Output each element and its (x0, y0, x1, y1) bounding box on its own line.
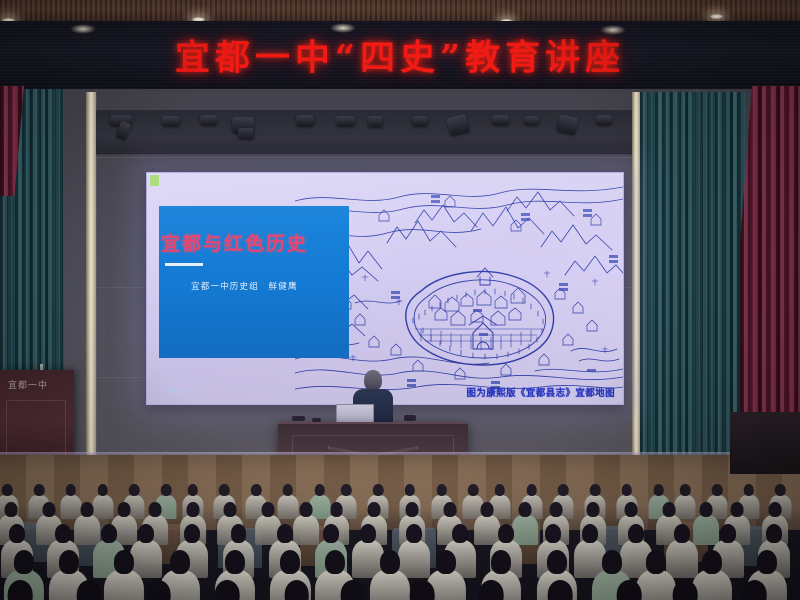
spotlight-icon (412, 116, 428, 126)
audience-head (622, 484, 633, 496)
audience-head (653, 484, 664, 496)
lighting-truss (96, 110, 632, 155)
audience-head (775, 484, 786, 496)
audience-head (452, 524, 468, 543)
ceiling (0, 0, 800, 22)
audience-head (519, 502, 532, 517)
pillar-left (86, 92, 96, 474)
audience-head (118, 502, 131, 517)
spotlight-icon (492, 115, 509, 125)
audience-head (410, 580, 435, 600)
desk-item (404, 415, 416, 421)
audience-head (129, 484, 140, 496)
audience-head (549, 502, 562, 517)
audience-member (466, 580, 515, 600)
audience-member (661, 580, 710, 600)
presenter-head (364, 370, 382, 391)
audience-head (225, 550, 245, 574)
audience-head (186, 502, 199, 517)
audience-head (283, 484, 294, 496)
audience-head (558, 484, 569, 496)
audience-head (481, 502, 494, 517)
audience-head (548, 580, 573, 600)
audience-head (101, 524, 117, 543)
audience-head (757, 550, 777, 574)
slide-subtitle: 宜都一中历史组 鲜健鹰 (191, 280, 298, 292)
audience-member (397, 580, 446, 600)
audience-head (231, 524, 247, 543)
audience-head (587, 502, 600, 517)
audience-head (712, 484, 723, 496)
auditorium-photo: 宜都一中“四史”教育讲座 (0, 0, 800, 600)
audience-head (251, 484, 262, 496)
audience-member (328, 580, 377, 600)
spotlight-icon (200, 115, 217, 125)
audience-head (114, 550, 134, 574)
audience-head (262, 502, 275, 517)
audience-head (325, 550, 345, 574)
audience-head (680, 484, 691, 496)
audience-head (743, 484, 754, 496)
audience-head (406, 524, 422, 543)
spotlight-icon (596, 115, 612, 125)
audience-head (498, 524, 514, 543)
map-caption: 图为康熙版《宜都县志》宜都地图 (466, 385, 615, 399)
audience-head (97, 484, 108, 496)
audience-member (536, 580, 585, 600)
banner-title: 宜都一中“四史”教育讲座 (0, 30, 800, 81)
spotlight-icon (556, 114, 578, 135)
stage-cabinet (730, 412, 800, 474)
audience-head (479, 580, 504, 600)
audience-head (582, 524, 598, 543)
audience-head (280, 550, 300, 574)
spotlight-icon (238, 128, 254, 139)
audience-head (215, 580, 240, 600)
audience-head (330, 502, 343, 517)
spotlight-icon (296, 115, 314, 126)
audience (0, 468, 800, 600)
audience-head (43, 502, 56, 517)
audience-head (224, 502, 237, 517)
audience-head (405, 502, 418, 517)
audience-head (380, 550, 400, 574)
audience-head (219, 484, 230, 496)
audience-head (617, 580, 642, 600)
audience-head (436, 484, 447, 496)
spotlight-icon (524, 116, 539, 125)
audience-head (59, 550, 79, 574)
audience-head (9, 524, 25, 543)
audience-member (134, 580, 183, 600)
audience-head (546, 550, 566, 574)
audience-member (203, 580, 252, 600)
slide-title: 宜都与红色历史 (161, 229, 308, 256)
audience-head (284, 580, 309, 600)
audience-head (161, 484, 172, 496)
spotlight-icon (446, 114, 470, 136)
audience-head (602, 550, 622, 574)
audience-head (405, 484, 416, 496)
audience-head (277, 524, 293, 543)
event-banner: 宜都一中“四史”教育讲座 (0, 21, 800, 91)
ceiling-downlight-icon (710, 14, 723, 19)
desk-item (292, 416, 305, 421)
audience-head (720, 524, 736, 543)
audience-head (491, 550, 511, 574)
audience-head (149, 502, 162, 517)
audience-head (628, 524, 644, 543)
spotlight-icon (162, 116, 180, 126)
audience-head (368, 502, 381, 517)
audience-head (700, 502, 713, 517)
slide-title-rule (165, 263, 203, 266)
audience-member (605, 580, 654, 600)
screen-power-indicator-icon (150, 175, 159, 186)
audience-head (674, 524, 690, 543)
audience-head (468, 484, 479, 496)
audience-head (170, 550, 190, 574)
audience-member (65, 580, 114, 600)
slide-progress-dots-icon (161, 389, 197, 393)
audience-head (314, 484, 325, 496)
audience-head (2, 484, 13, 496)
wall-seam (96, 157, 632, 158)
podium-label: 宜都一中 (8, 378, 48, 391)
audience-head (443, 502, 456, 517)
audience-head (702, 550, 722, 574)
audience-head (731, 502, 744, 517)
audience-head (436, 550, 456, 574)
audience-head (646, 550, 666, 574)
spotlight-icon (368, 116, 383, 127)
audience-head (766, 524, 782, 543)
audience-head (373, 484, 384, 496)
audience-member (272, 580, 321, 600)
audience-head (360, 524, 376, 543)
audience-head (299, 502, 312, 517)
audience-head (590, 484, 601, 496)
audience-head (188, 484, 199, 496)
audience-head (768, 502, 781, 517)
audience-head (146, 580, 171, 600)
audience-head (673, 580, 698, 600)
audience-head (340, 580, 365, 600)
audience-head (5, 502, 18, 517)
audience-head (526, 484, 537, 496)
pillar-right (632, 92, 640, 472)
audience-head (184, 524, 200, 543)
audience-head (34, 484, 45, 496)
spotlight-icon (336, 116, 355, 126)
audience-head (138, 524, 154, 543)
audience-head (55, 524, 71, 543)
audience-member (0, 580, 45, 600)
audience-head (14, 550, 34, 574)
audience-head (80, 502, 93, 517)
audience-head (625, 502, 638, 517)
audience-head (495, 484, 506, 496)
audience-head (77, 580, 102, 600)
audience-head (742, 580, 767, 600)
audience-head (8, 580, 33, 600)
audience-member (730, 580, 779, 600)
audience-head (341, 484, 352, 496)
audience-head (66, 484, 77, 496)
audience-head (545, 524, 561, 543)
audience-head (662, 502, 675, 517)
audience-head (323, 524, 339, 543)
